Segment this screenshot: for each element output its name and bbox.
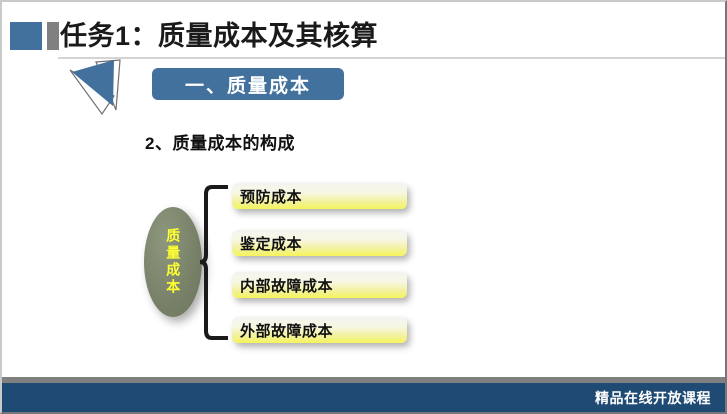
diagram-branch-prevention: 预防成本 (232, 183, 407, 209)
footer-bar: 精品在线开放课程 (2, 383, 725, 412)
diagram-root-label: 质量成本 (164, 228, 183, 296)
branch-label: 内部故障成本 (232, 275, 333, 296)
quality-cost-diagram: 质量成本 预防成本 鉴定成本 内部故障成本 外部故障成本 (132, 177, 432, 352)
diagram-branch-internal-failure: 内部故障成本 (232, 272, 407, 298)
branch-label: 外部故障成本 (232, 320, 333, 341)
title-accent-bar (47, 22, 59, 50)
brace-connector-icon (196, 181, 230, 346)
diagram-branch-appraisal: 鉴定成本 (232, 230, 407, 256)
section-banner-label: 一、质量成本 (185, 71, 311, 98)
page-title: 任务1：质量成本及其核算 (60, 14, 378, 53)
branch-label: 鉴定成本 (232, 233, 302, 254)
title-accent-square (10, 22, 42, 50)
footer-label: 精品在线开放课程 (595, 388, 725, 408)
diagram-branch-external-failure: 外部故障成本 (232, 317, 407, 343)
section-banner: 一、质量成本 (152, 68, 344, 100)
slide-canvas: 任务1：质量成本及其核算 一、质量成本 2、质量成本的构成 质量成本 预防成本 … (0, 0, 727, 414)
subheading: 2、质量成本的构成 (145, 129, 295, 154)
diagram-root-node: 质量成本 (144, 207, 202, 317)
branch-label: 预防成本 (232, 186, 302, 207)
